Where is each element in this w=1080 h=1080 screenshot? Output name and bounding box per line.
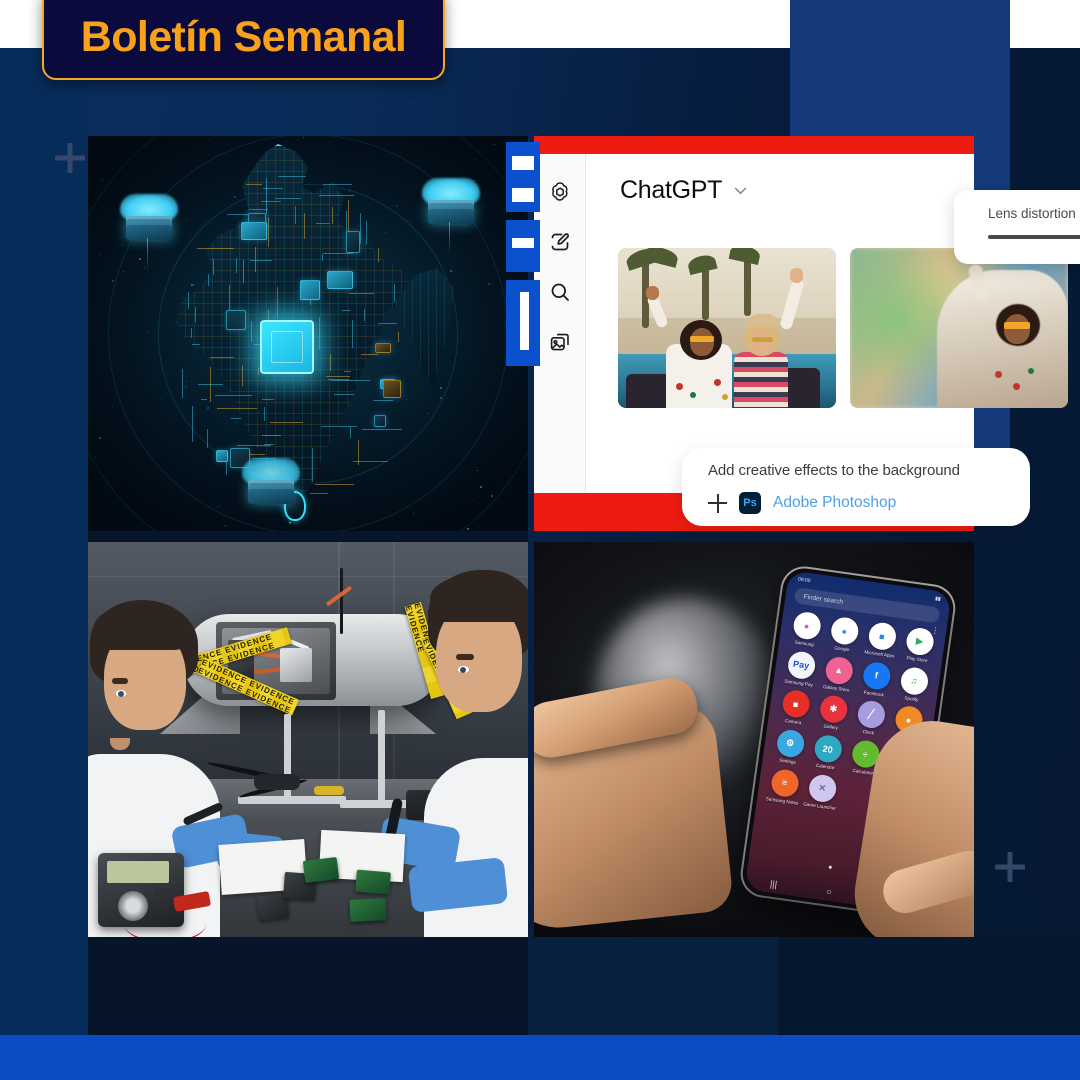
- app-label: Galaxy Store: [823, 684, 850, 693]
- chatgpt-sidebar: [534, 154, 586, 493]
- app-label: Clock: [862, 729, 874, 736]
- finder-search-placeholder: Finder search: [803, 593, 843, 605]
- chip-sample: [303, 857, 339, 883]
- generated-image-strip: [618, 248, 1068, 408]
- app-glyph: ♫: [899, 666, 929, 696]
- image-grid: ChatGPT: [88, 136, 974, 937]
- chatgpt-model-name: ChatGPT: [620, 176, 722, 205]
- background-dark-panel-2: [528, 930, 778, 1036]
- app-glyph: ●: [829, 616, 859, 646]
- more-vertical-icon[interactable]: ⋮: [931, 629, 939, 634]
- app-label: Samsung Pay: [784, 678, 813, 688]
- app-icon-samsung-pay[interactable]: PaySamsung Pay: [780, 649, 820, 688]
- app-glyph: ■: [867, 621, 897, 651]
- stand-post: [378, 710, 385, 806]
- recents-icon[interactable]: |||: [769, 879, 777, 890]
- chatgpt-body: ChatGPT: [534, 154, 974, 493]
- app-glyph: 20: [812, 734, 842, 764]
- page-title: Boletín Semanal: [81, 10, 407, 59]
- app-icon-settings[interactable]: ⚙Settings: [769, 728, 809, 767]
- app-label: Samsung: [794, 640, 814, 648]
- chatgpt-main: ChatGPT: [586, 154, 974, 493]
- app-label: Calculator: [852, 768, 873, 777]
- app-glyph: ≡: [769, 768, 799, 798]
- home-icon[interactable]: ○: [825, 886, 832, 897]
- photoshop-badge-icon: Ps: [739, 492, 761, 514]
- app-glyph: ■: [780, 689, 810, 719]
- grid-cell-phone[interactable]: 09:00 ▮▮ Finder search ⋮ ●Samsung●Google…: [534, 542, 974, 937]
- central-cpu-icon: [260, 320, 314, 374]
- app-icon-galaxy-store[interactable]: ▲Galaxy Store: [818, 654, 858, 693]
- probe-cable: [124, 905, 206, 937]
- phone-scene: 09:00 ▮▮ Finder search ⋮ ●Samsung●Google…: [534, 542, 974, 937]
- background-bottom-band: [0, 1035, 1080, 1080]
- library-icon[interactable]: [548, 330, 572, 354]
- background-white-notch: [1010, 0, 1080, 48]
- source-photo[interactable]: [618, 248, 836, 408]
- app-icon-clock[interactable]: ╱Clock: [850, 699, 890, 738]
- app-icon-samsung-notes[interactable]: ≡Samsung Notes: [764, 767, 804, 806]
- chip-sample: [355, 870, 391, 895]
- app-label: Camera: [785, 719, 802, 727]
- app-icon-game-launcher[interactable]: ✕Game Launcher: [801, 772, 841, 811]
- edited-photo[interactable]: [850, 248, 1068, 408]
- app-glyph: f: [861, 660, 891, 690]
- app-glyph: ✱: [818, 694, 848, 724]
- cloud-datacenter-icon: [238, 458, 304, 518]
- app-icon-facebook[interactable]: fFacebook: [856, 660, 896, 699]
- side-tab-strip: [506, 142, 540, 372]
- cloud-datacenter-icon: [116, 194, 182, 254]
- app-label: Game Launcher: [803, 801, 836, 811]
- status-icons: ▮▮: [935, 596, 941, 603]
- chatgpt-window: ChatGPT: [534, 136, 974, 531]
- app-label: Calendar: [816, 763, 835, 771]
- newsletter-title-badge: Boletín Semanal: [42, 0, 445, 80]
- plus-decoration-icon: [995, 852, 1025, 882]
- india-circuit-scene: [88, 136, 528, 531]
- background-left-column: [0, 48, 88, 1036]
- lab-scene: EVIDENCE EVIDENCE EVIDENCE EVIDENCE EVID…: [88, 542, 528, 937]
- background-dark-panel-3: [778, 930, 1080, 1036]
- yellow-tool: [314, 786, 344, 795]
- chevron-down-icon[interactable]: [732, 182, 749, 199]
- app-icon-calendar[interactable]: 20Calendar: [807, 733, 847, 772]
- app-glyph: ✕: [807, 773, 837, 803]
- app-label: Facebook: [863, 689, 884, 697]
- cloud-datacenter-icon: [418, 178, 484, 238]
- app-label: Google: [834, 645, 849, 653]
- app-glyph: Pay: [786, 650, 816, 680]
- grid-cell-chatgpt-panel[interactable]: ChatGPT: [534, 136, 974, 531]
- app-label: Play Store: [906, 655, 928, 664]
- app-glyph: ╱: [856, 700, 886, 730]
- photoshop-prompt-text: Add creative effects to the background: [708, 462, 1030, 479]
- plus-icon[interactable]: [708, 494, 727, 513]
- app-icon-camera[interactable]: ■Camera: [775, 688, 815, 727]
- plus-decoration-icon: [55, 143, 85, 173]
- grid-cell-india-circuit-map[interactable]: [88, 136, 528, 531]
- app-label: Microsoft Apps: [864, 649, 895, 659]
- app-label: Spotify: [904, 695, 919, 703]
- status-time: 09:00: [798, 576, 811, 584]
- page-indicator: [829, 866, 832, 869]
- app-label: Settings: [779, 758, 796, 766]
- app-glyph: ⚙: [775, 728, 805, 758]
- openai-logo-icon[interactable]: [548, 180, 572, 204]
- app-icon-spotify[interactable]: ♫Spotify: [893, 665, 933, 704]
- chatgpt-model-selector[interactable]: ChatGPT: [586, 154, 974, 205]
- app-label: Gallery: [823, 724, 838, 732]
- probe-handle: [254, 774, 300, 790]
- app-label: Samsung Notes: [765, 796, 798, 806]
- chip-sample: [349, 898, 386, 922]
- stand-base: [238, 796, 346, 804]
- app-glyph: ●: [791, 610, 821, 640]
- new-chat-icon[interactable]: [548, 230, 572, 254]
- lens-distortion-slider[interactable]: [988, 235, 1080, 239]
- app-glyph: ▲: [824, 655, 854, 685]
- photoshop-app-link[interactable]: Adobe Photoshop: [773, 494, 896, 512]
- antenna-wire: [340, 568, 343, 634]
- lens-distortion-label: Lens distortion: [988, 206, 1080, 221]
- lens-distortion-card[interactable]: Lens distortion: [954, 190, 1080, 264]
- grid-cell-forensic-lab[interactable]: EVIDENCE EVIDENCE EVIDENCE EVIDENCE EVID…: [88, 542, 528, 937]
- app-icon-gallery[interactable]: ✱Gallery: [812, 694, 852, 733]
- app-icon-samsung[interactable]: ●Samsung: [786, 610, 826, 649]
- search-icon[interactable]: [548, 280, 572, 304]
- photoshop-suggestion-card[interactable]: Add creative effects to the background P…: [682, 448, 1030, 526]
- app-icon-microsoft-apps[interactable]: ■Microsoft Apps: [861, 620, 901, 659]
- app-icon-google[interactable]: ●Google: [824, 615, 864, 654]
